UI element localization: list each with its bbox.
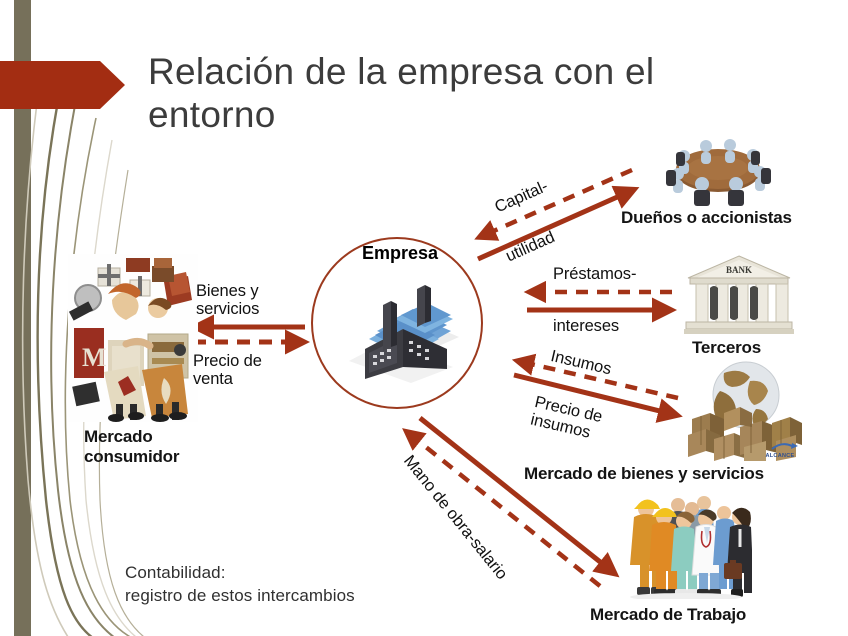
boardroom-meeting-image — [658, 134, 778, 206]
owners-label: Dueños o accionistas — [621, 208, 792, 227]
slide-canvas: Relación de la empresa con el entorno Em… — [0, 0, 848, 636]
empresa-label: Empresa — [362, 243, 438, 263]
sale-price-label: Precio de venta — [193, 352, 303, 389]
consumer-market-label: Mercado consumidor — [84, 427, 264, 467]
bank-building-image: BANK — [684, 254, 794, 336]
accounting-note-line1: Contabilidad: — [125, 563, 226, 582]
loans-label: Préstamos- — [553, 265, 636, 283]
svg-text:M: M — [82, 343, 107, 372]
goods-services-label: Bienes y servicios — [196, 282, 306, 319]
third-parties-label: Terceros — [692, 338, 761, 357]
goods-market-label: Mercado de bienes y servicios — [524, 464, 764, 483]
bank-sign-text: BANK — [726, 265, 752, 275]
factory-icon — [335, 275, 463, 387]
workers-group-image — [620, 487, 752, 599]
shoppers-image: M — [68, 254, 198, 422]
labor-market-label: Mercado de Trabajo — [590, 605, 746, 624]
interest-label: intereses — [553, 317, 619, 335]
accounting-note-line2: registro de estos intercambios — [125, 586, 355, 605]
globe-boxes-image: ALCANCE — [684, 357, 802, 461]
alcance-logo-text: ALCANCE — [766, 453, 795, 459]
